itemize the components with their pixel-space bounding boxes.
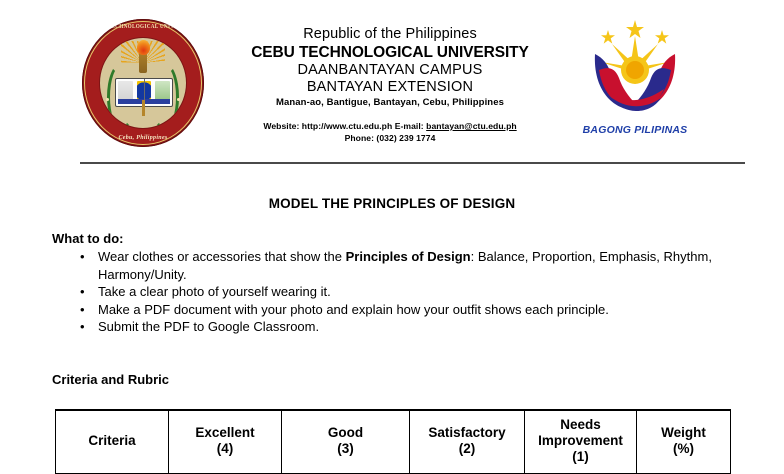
seal-dot-left-icon	[106, 98, 109, 101]
column-header-criteria: Criteria	[56, 410, 169, 474]
bagong-pilipinas-label: BAGONG PILIPINAS	[572, 124, 698, 136]
table-header-row: Criteria Excellent (4) Good (3) Satisfac…	[56, 410, 731, 474]
bullet-dot-icon: •	[80, 248, 85, 266]
what-to-do-heading: What to do:	[52, 231, 123, 246]
ctu-seal-logo: CEBU TECHNOLOGICAL UNIVERSITY Cebu, Phil…	[82, 19, 204, 147]
seal-inner-field	[99, 37, 187, 129]
contact-block: Website: http://www.ctu.edu.ph E-mail: b…	[225, 121, 555, 144]
seal-arc-text-bottom: Cebu, Philippines	[82, 135, 204, 141]
republic-line: Republic of the Philippines	[225, 26, 555, 43]
institution-text-block: Republic of the Philippines CEBU TECHNOL…	[225, 26, 555, 144]
list-item-pre: Make a PDF document with your photo and …	[98, 302, 609, 317]
university-name: CEBU TECHNOLOGICAL UNIVERSITY	[225, 43, 555, 62]
list-item: • Submit the PDF to Google Classroom.	[52, 318, 722, 336]
seal-flame-icon	[137, 40, 150, 55]
address-line: Manan-ao, Bantigue, Bantayan, Cebu, Phil…	[225, 96, 555, 110]
column-header-score: (3)	[284, 441, 407, 457]
column-header-score: (2)	[412, 441, 522, 457]
list-item-pre: Take a clear photo of yourself wearing i…	[98, 284, 331, 299]
seal-arc-text-top: CEBU TECHNOLOGICAL UNIVERSITY	[82, 24, 204, 31]
column-header-excellent: Excellent (4)	[169, 410, 282, 474]
list-item: • Take a clear photo of yourself wearing…	[52, 283, 722, 301]
website-label: Website: http://www.ctu.edu.ph E-mail:	[263, 121, 423, 131]
bagong-pilipinas-mark-icon	[585, 18, 685, 114]
bullet-dot-icon: •	[80, 283, 85, 301]
criteria-and-rubric-heading: Criteria and Rubric	[52, 372, 169, 387]
bagong-pilipinas-logo: BAGONG PILIPINAS	[572, 18, 698, 138]
bullet-dot-icon: •	[80, 318, 85, 336]
column-header-label: Good	[284, 425, 407, 441]
campus-name: DAANBANTAYAN CAMPUS	[225, 62, 555, 79]
column-header-label: Criteria	[58, 433, 166, 449]
email-link[interactable]: bantayan@ctu.edu.ph	[426, 121, 517, 131]
page-title: MODEL THE PRINCIPLES OF DESIGN	[0, 196, 784, 211]
column-header-satisfactory: Satisfactory (2)	[410, 410, 525, 474]
column-header-score: (4)	[171, 441, 279, 457]
rubric-table: Criteria Excellent (4) Good (3) Satisfac…	[55, 409, 731, 474]
list-item-pre: Wear clothes or accessories that show th…	[98, 249, 346, 264]
column-header-score: (%)	[639, 441, 728, 457]
column-header-needs-improvement: Needs Improvement (1)	[525, 410, 637, 474]
column-header-label: Excellent	[171, 425, 279, 441]
column-header-score: (1)	[527, 449, 634, 465]
website-email-line: Website: http://www.ctu.edu.ph E-mail: b…	[225, 121, 555, 133]
list-item-pre: Submit the PDF to Google Classroom.	[98, 319, 319, 334]
column-header-label: Satisfactory	[412, 425, 522, 441]
column-header-label: Needs Improvement	[527, 417, 634, 449]
column-header-label: Weight	[639, 425, 728, 441]
extension-name: BANTAYAN EXTENSION	[225, 79, 555, 96]
column-header-weight: Weight (%)	[637, 410, 731, 474]
header-divider-rule	[80, 162, 745, 164]
seal-dot-right-icon	[177, 98, 180, 101]
column-header-good: Good (3)	[282, 410, 410, 474]
letterhead: CEBU TECHNOLOGICAL UNIVERSITY Cebu, Phil…	[0, 0, 784, 150]
list-item-bold: Principles of Design	[346, 249, 471, 264]
instructions-list: • Wear clothes or accessories that show …	[52, 248, 722, 336]
list-item: • Wear clothes or accessories that show …	[52, 248, 722, 283]
phone-line: Phone: (032) 239 1774	[225, 133, 555, 145]
seal-stem	[142, 100, 145, 116]
list-item: • Make a PDF document with your photo an…	[52, 301, 722, 319]
bullet-dot-icon: •	[80, 301, 85, 319]
